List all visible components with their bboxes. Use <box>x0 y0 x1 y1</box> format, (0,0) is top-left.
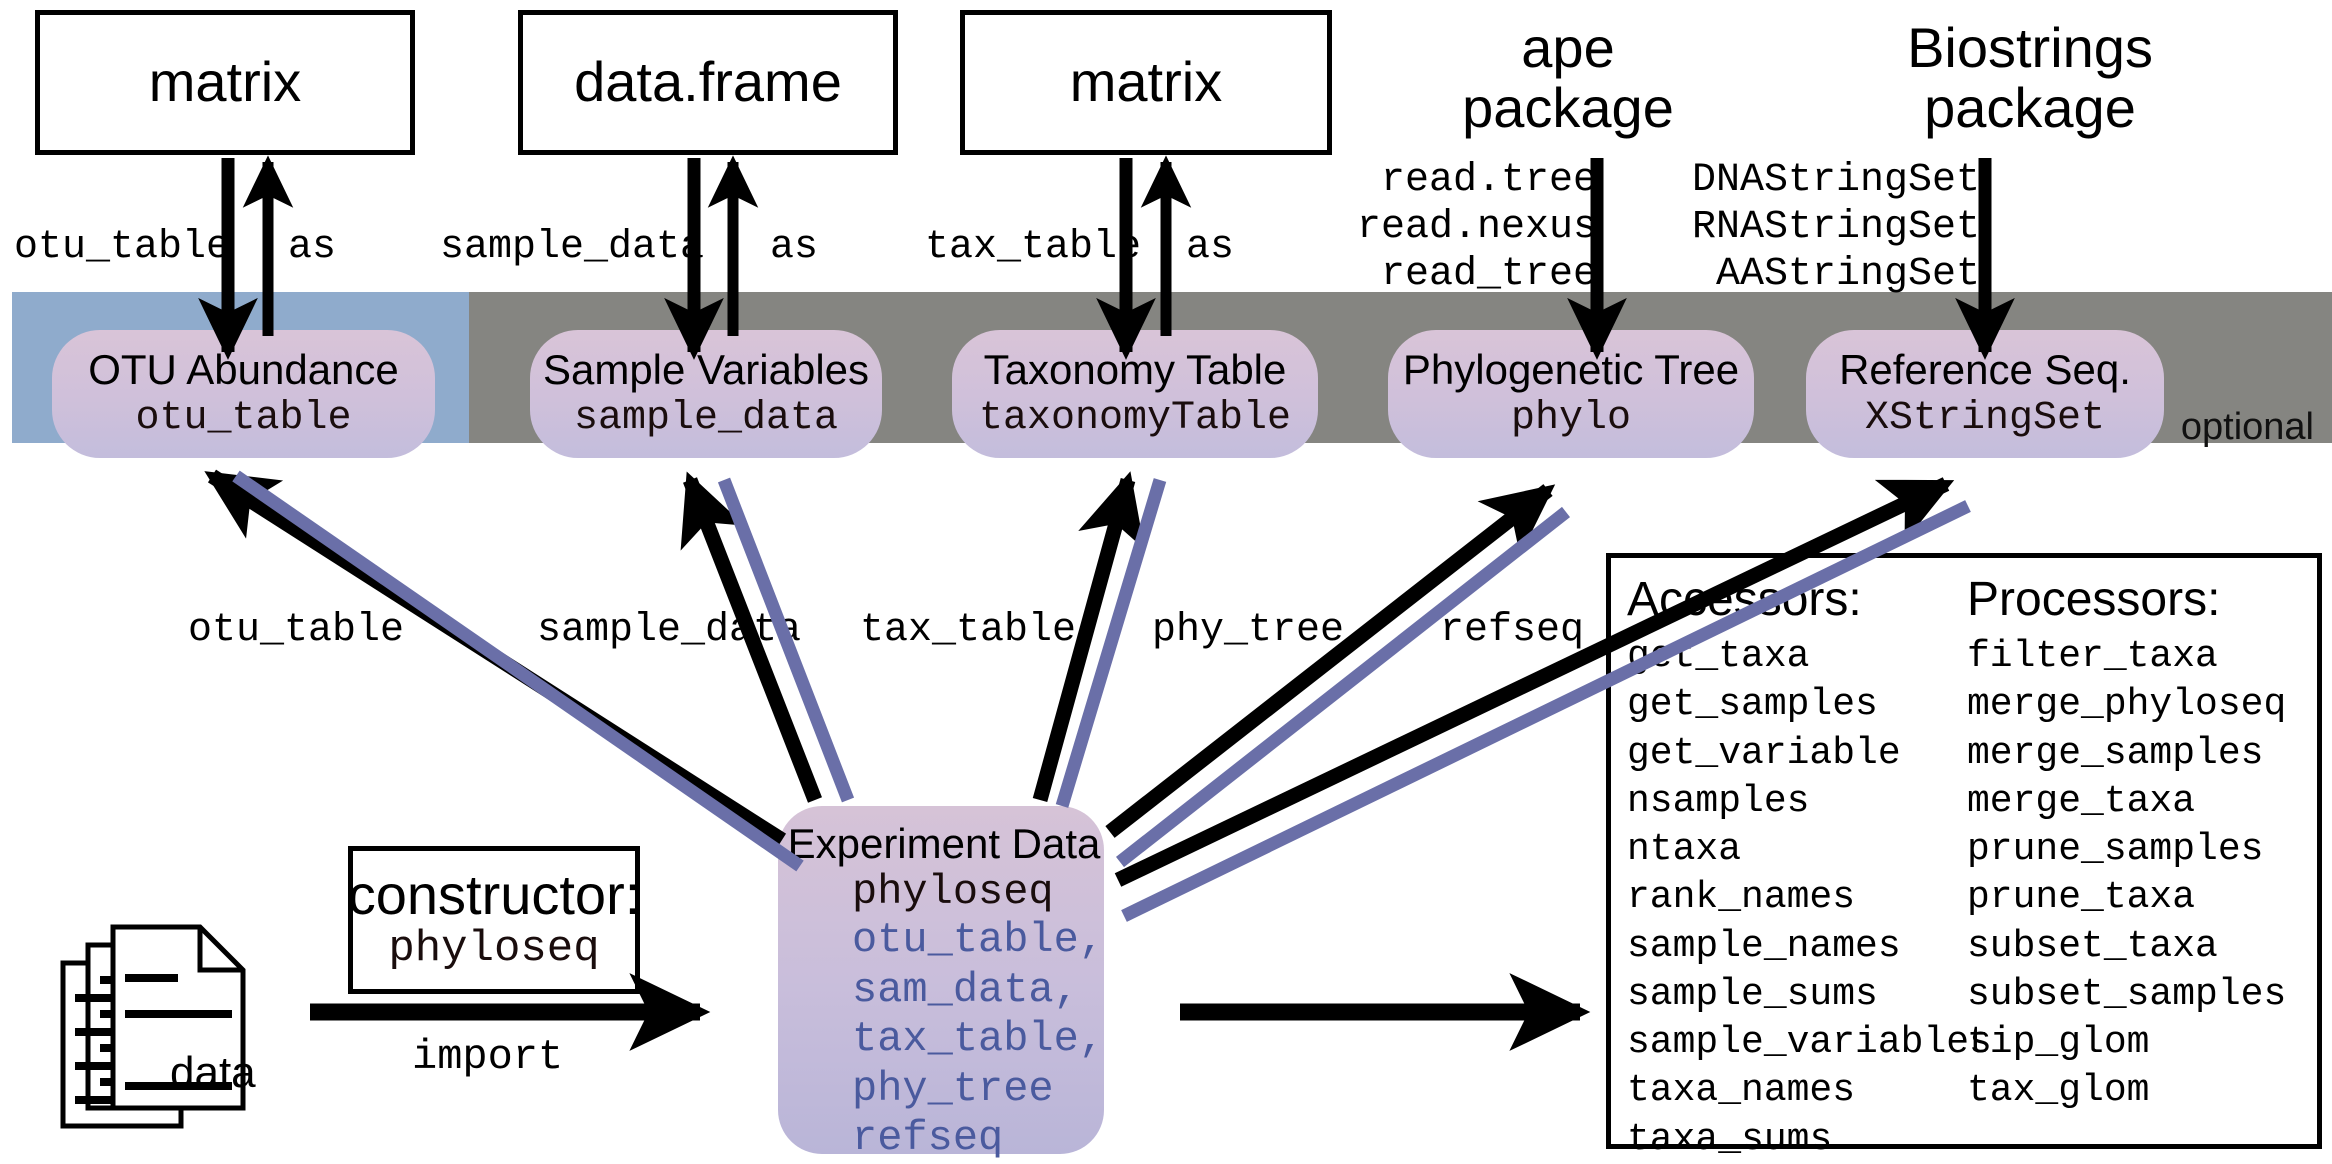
accessor-arrows-black <box>212 476 1946 880</box>
arrow-layer <box>0 0 2332 1154</box>
package-import-arrows <box>1597 158 1985 352</box>
diagram-canvas: optional matrix data.frame matrix ape pa… <box>0 0 2332 1154</box>
coercion-arrows-up <box>268 162 1166 336</box>
coercion-arrows-down <box>228 158 1126 352</box>
accessor-arrows-blue <box>236 476 1968 916</box>
